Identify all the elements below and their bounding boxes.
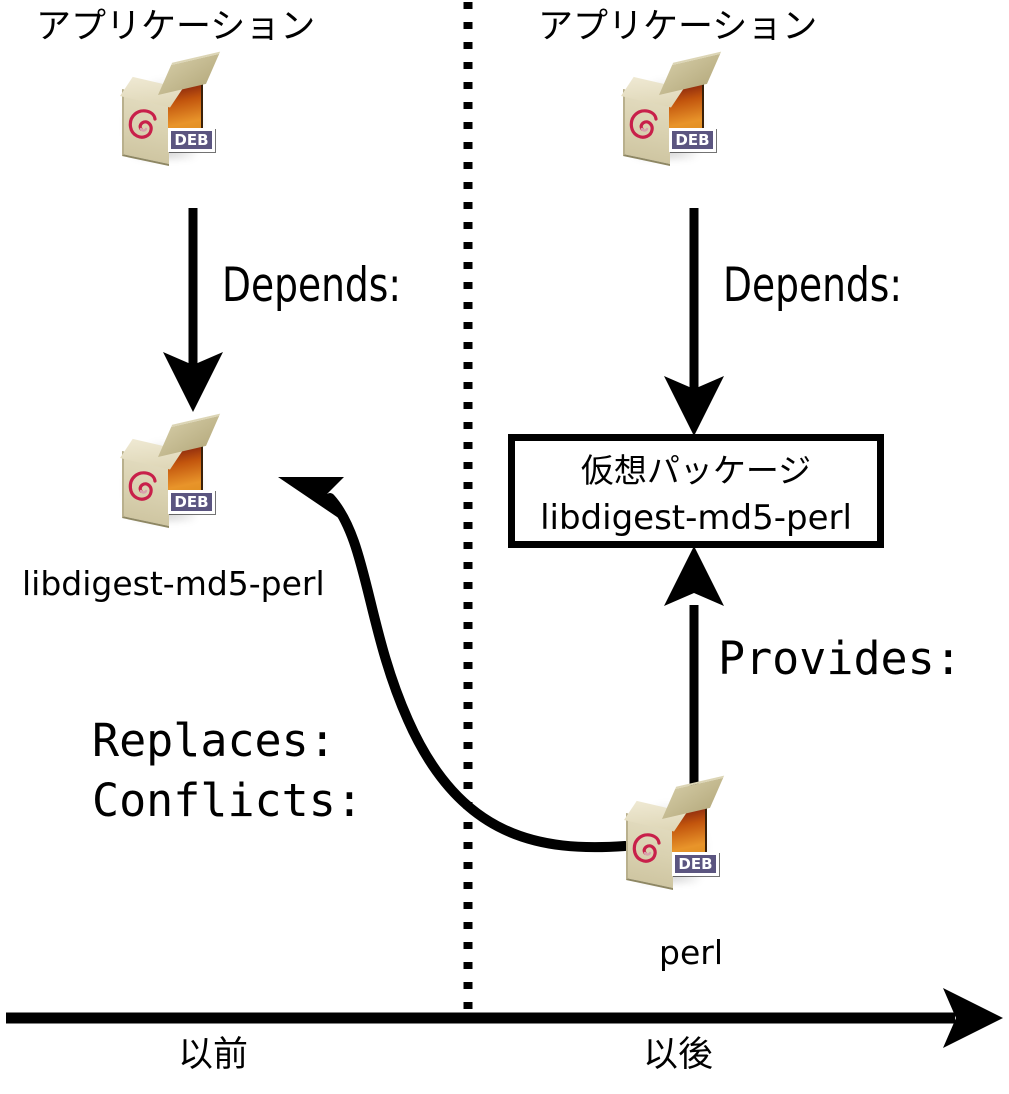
- right-column-title: アプリケーション: [538, 10, 817, 45]
- conflicts-label: Conflicts:: [92, 778, 363, 823]
- right-application-package-icon: DEB: [614, 62, 718, 166]
- debian-swirl-icon: [629, 830, 669, 870]
- deb-badge: DEB: [168, 128, 215, 152]
- deb-badge-label: DEB: [174, 495, 208, 510]
- provides-label: Provides:: [718, 636, 962, 681]
- diagram-canvas: アプリケーション アプリケーション DEB DEB De: [0, 0, 1009, 1094]
- perl-package-label: perl: [659, 936, 723, 969]
- deb-badge-label: DEB: [675, 133, 709, 148]
- replaces-label: Replaces:: [92, 718, 336, 763]
- left-application-package-icon: DEB: [113, 62, 217, 166]
- deb-badge-label: DEB: [678, 857, 712, 872]
- debian-swirl-icon: [125, 468, 165, 508]
- timeline-axis: [6, 988, 1003, 1048]
- deb-badge-label: DEB: [174, 133, 208, 148]
- left-column-title: アプリケーション: [36, 10, 315, 45]
- right-depends-arrow: [664, 208, 724, 436]
- debian-swirl-icon: [125, 106, 165, 146]
- virtual-package-box: 仮想パッケージ libdigest-md5-perl: [508, 434, 884, 548]
- left-depends-arrow: [163, 208, 223, 412]
- deb-badge: DEB: [168, 490, 215, 514]
- deb-badge: DEB: [669, 128, 716, 152]
- left-target-package-icon: DEB: [113, 424, 217, 528]
- virtual-package-name: libdigest-md5-perl: [540, 498, 852, 538]
- provides-arrow: [664, 546, 724, 790]
- left-target-package-label: libdigest-md5-perl: [22, 567, 325, 600]
- timeline-after-label: 以後: [643, 1038, 713, 1073]
- perl-package-icon: DEB: [617, 786, 721, 890]
- deb-badge: DEB: [672, 852, 719, 876]
- left-depends-label: Depends:: [222, 262, 401, 309]
- timeline-before-label: 以前: [178, 1038, 248, 1073]
- virtual-package-title: 仮想パッケージ: [581, 444, 811, 492]
- debian-swirl-icon: [626, 106, 666, 146]
- right-depends-label: Depends:: [723, 262, 902, 309]
